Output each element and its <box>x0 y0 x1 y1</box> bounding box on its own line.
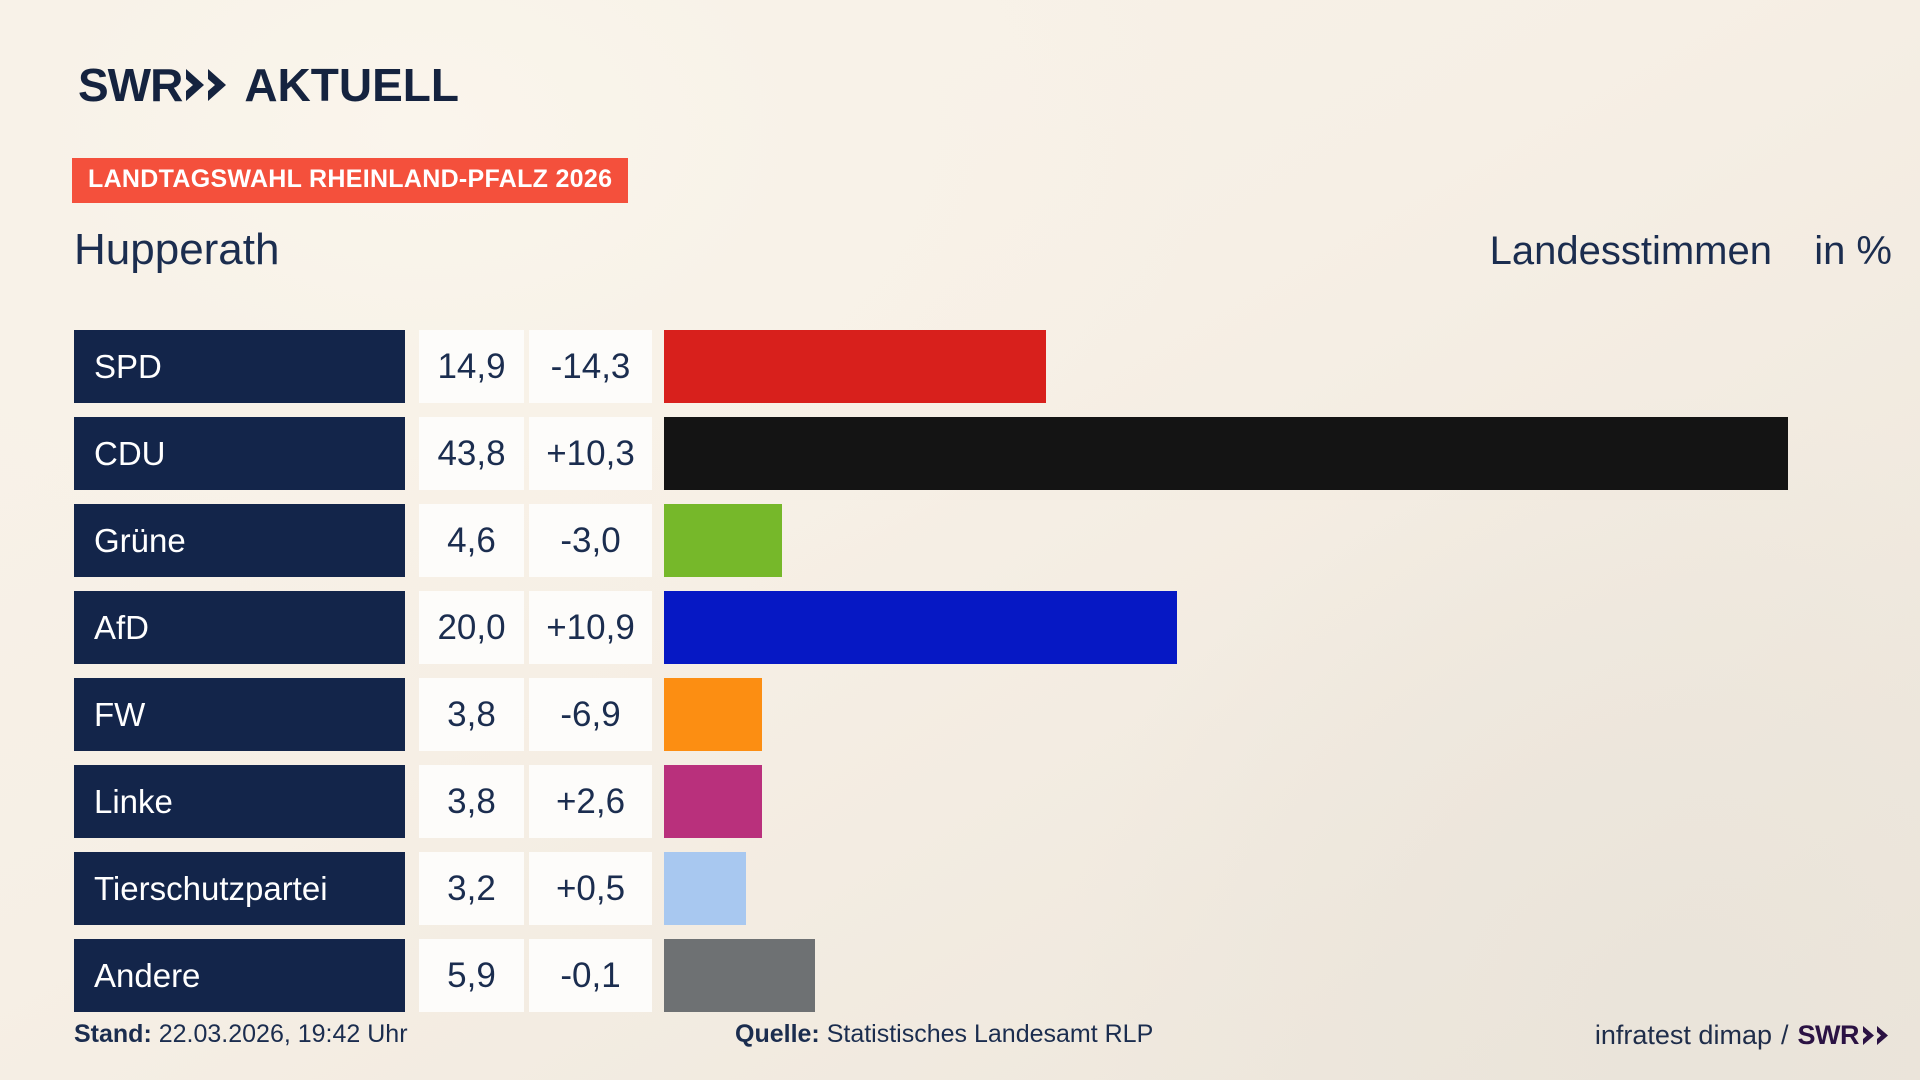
result-value: 14,9 <box>437 347 505 387</box>
party-name: Grüne <box>74 522 186 560</box>
result-value: 3,8 <box>447 782 496 822</box>
result-value-cell: 3,8 <box>419 765 524 838</box>
change-value-cell: +10,9 <box>529 591 652 664</box>
result-bar <box>664 765 762 838</box>
change-value-cell: -14,3 <box>529 330 652 403</box>
quelle-text: Quelle: Statistisches Landesamt RLP <box>735 1020 1153 1049</box>
result-value-cell: 4,6 <box>419 504 524 577</box>
table-row: Grüne4,6-3,0 <box>74 504 1920 591</box>
page-title: Hupperath <box>74 225 279 275</box>
results-table: SPD14,9-14,3CDU43,8+10,3Grüne4,6-3,0AfD2… <box>74 330 1920 1026</box>
party-name: AfD <box>74 609 149 647</box>
vote-type-label: Landesstimmen <box>1490 229 1772 274</box>
double-chevron-right-icon <box>1862 1025 1892 1046</box>
result-bar <box>664 417 1788 490</box>
attribution-swr-text: SWR <box>1798 1020 1860 1051</box>
logo-aktuell-text: AKTUELL <box>244 58 459 112</box>
stand-value: 22.03.2026, 19:42 Uhr <box>159 1020 408 1048</box>
party-name: Linke <box>74 783 173 821</box>
result-bar <box>664 852 746 925</box>
double-chevron-right-icon <box>184 68 234 102</box>
change-value: +10,9 <box>546 608 635 648</box>
swr-aktuell-logo: SWR AKTUELL <box>78 58 459 112</box>
subheader: Hupperath Landesstimmen in % <box>0 225 1920 289</box>
party-label-cell: Grüne <box>74 504 405 577</box>
party-name: CDU <box>74 435 166 473</box>
table-row: Andere5,9-0,1 <box>74 939 1920 1026</box>
quelle-value: Statistisches Landesamt RLP <box>827 1020 1154 1048</box>
quelle-label: Quelle: <box>735 1020 820 1048</box>
result-bar <box>664 939 815 1012</box>
result-value: 5,9 <box>447 956 496 996</box>
change-value-cell: -0,1 <box>529 939 652 1012</box>
result-value-cell: 14,9 <box>419 330 524 403</box>
result-value: 3,8 <box>447 695 496 735</box>
party-name: Tierschutzpartei <box>74 870 328 908</box>
attribution-infratest-dimap: infratest dimap <box>1595 1020 1772 1051</box>
change-value: +10,3 <box>546 434 635 474</box>
change-value-cell: +2,6 <box>529 765 652 838</box>
result-value: 3,2 <box>447 869 496 909</box>
table-row: AfD20,0+10,9 <box>74 591 1920 678</box>
party-name: Andere <box>74 957 200 995</box>
attribution: infratest dimap / SWR <box>1595 1020 1892 1051</box>
change-value: -6,9 <box>560 695 620 735</box>
change-value-cell: +0,5 <box>529 852 652 925</box>
result-bar <box>664 330 1046 403</box>
party-label-cell: Linke <box>74 765 405 838</box>
attribution-swr-logo: SWR <box>1798 1020 1893 1051</box>
party-label-cell: SPD <box>74 330 405 403</box>
change-value-cell: -6,9 <box>529 678 652 751</box>
result-value-cell: 43,8 <box>419 417 524 490</box>
change-value-cell: -3,0 <box>529 504 652 577</box>
party-label-cell: AfD <box>74 591 405 664</box>
party-label-cell: CDU <box>74 417 405 490</box>
result-bar <box>664 591 1177 664</box>
table-row: Tierschutzpartei3,2+0,5 <box>74 852 1920 939</box>
change-value-cell: +10,3 <box>529 417 652 490</box>
party-label-cell: FW <box>74 678 405 751</box>
party-name: SPD <box>74 348 162 386</box>
result-value: 20,0 <box>437 608 505 648</box>
change-value: +0,5 <box>556 869 625 909</box>
result-value: 4,6 <box>447 521 496 561</box>
logo-swr-text: SWR <box>78 58 182 112</box>
result-value-cell: 20,0 <box>419 591 524 664</box>
change-value: +2,6 <box>556 782 625 822</box>
change-value: -14,3 <box>551 347 631 387</box>
change-value: -0,1 <box>560 956 620 996</box>
table-row: CDU43,8+10,3 <box>74 417 1920 504</box>
party-name: FW <box>74 696 145 734</box>
table-row: Linke3,8+2,6 <box>74 765 1920 852</box>
party-label-cell: Andere <box>74 939 405 1012</box>
result-value-cell: 3,8 <box>419 678 524 751</box>
election-banner: LANDTAGSWAHL RHEINLAND-PFALZ 2026 <box>72 158 628 203</box>
result-bar <box>664 504 782 577</box>
party-label-cell: Tierschutzpartei <box>74 852 405 925</box>
unit-label: in % <box>1814 229 1892 274</box>
attribution-separator: / <box>1781 1020 1789 1051</box>
stand-text: Stand: 22.03.2026, 19:42 Uhr <box>74 1020 408 1049</box>
result-value: 43,8 <box>437 434 505 474</box>
stand-label: Stand: <box>74 1020 152 1048</box>
table-row: FW3,8-6,9 <box>74 678 1920 765</box>
result-value-cell: 5,9 <box>419 939 524 1012</box>
result-value-cell: 3,2 <box>419 852 524 925</box>
footer: Stand: 22.03.2026, 19:42 Uhr Quelle: Sta… <box>0 1020 1920 1070</box>
result-bar <box>664 678 762 751</box>
table-row: SPD14,9-14,3 <box>74 330 1920 417</box>
change-value: -3,0 <box>560 521 620 561</box>
